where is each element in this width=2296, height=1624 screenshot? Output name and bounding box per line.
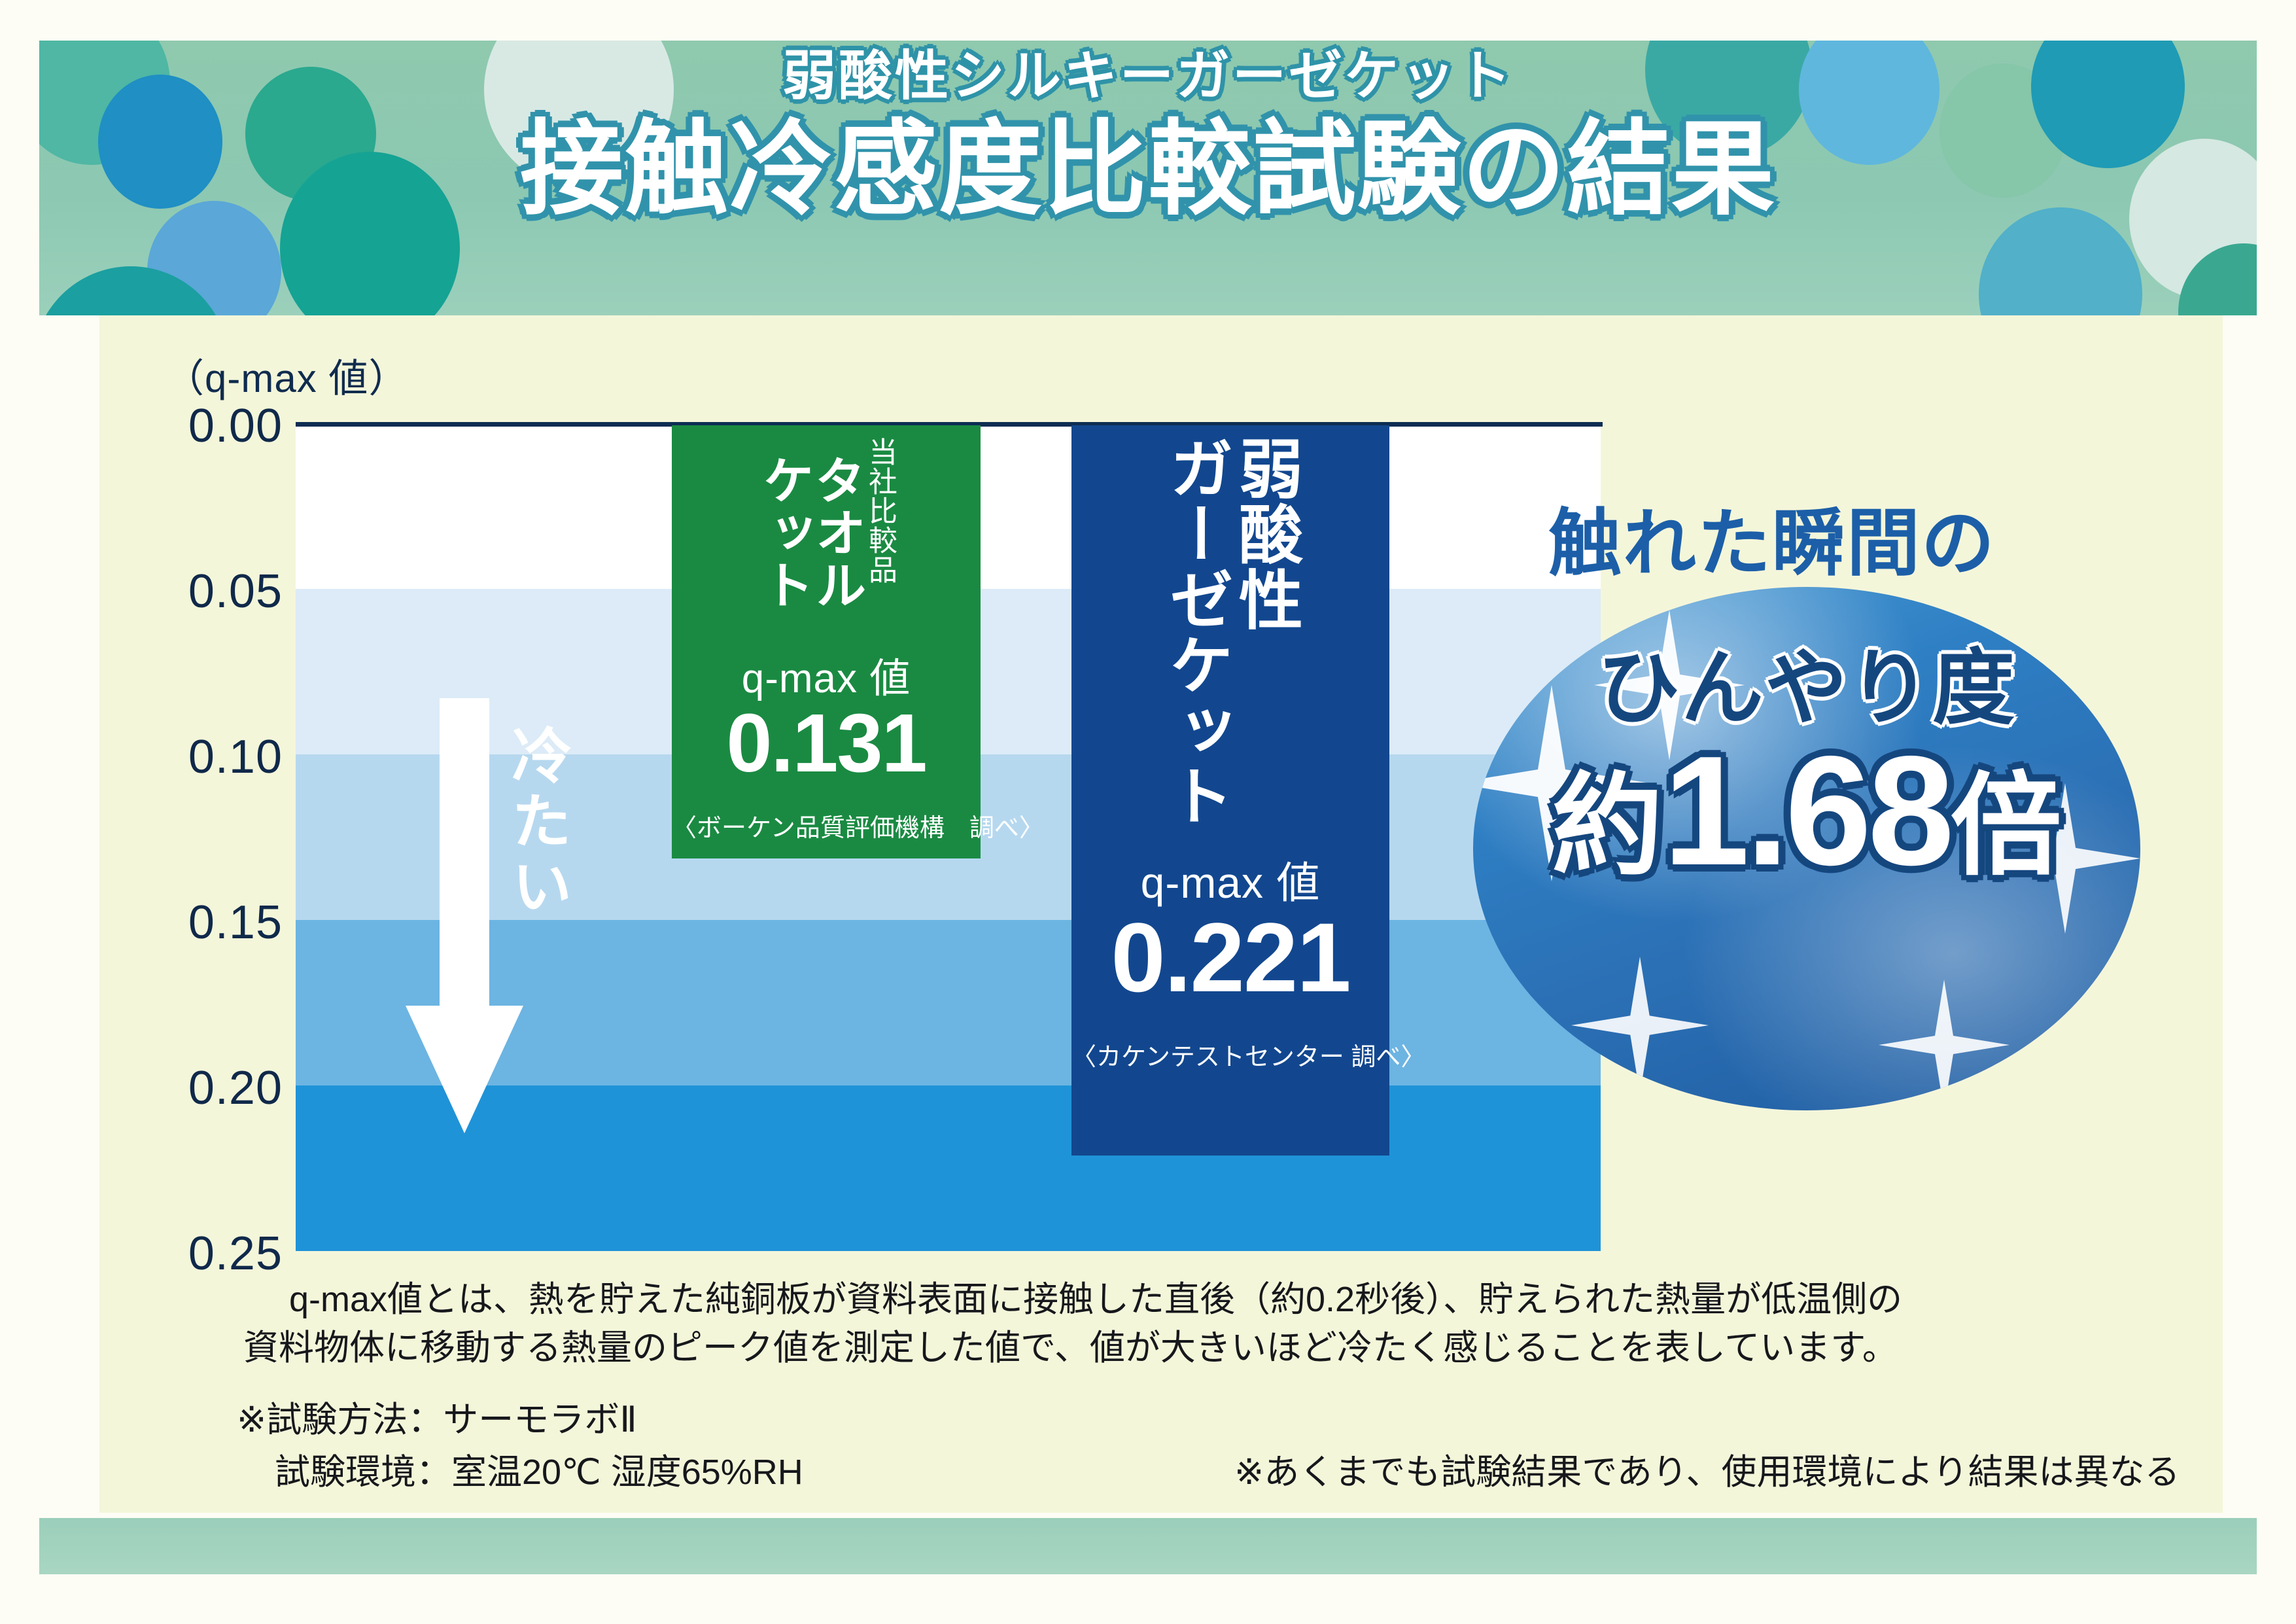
y-tick-1: 0.05 bbox=[113, 565, 283, 618]
definition-line-1: q-max値とは、熱を貯えた純銅板が資料表面に接触した直後（約0.2秒後）、貯え… bbox=[289, 1275, 1902, 1325]
test-environment: 試験環境：室温20℃ 湿度65%RH bbox=[275, 1447, 803, 1498]
ratio-prefix: 約 bbox=[1552, 764, 1663, 889]
header-band: 弱酸性シルキーガーゼケット 接触冷感度比較試験の結果 bbox=[39, 41, 2257, 315]
y-tick-0: 0.00 bbox=[113, 399, 283, 453]
title-block: 弱酸性シルキーガーゼケット 接触冷感度比較試験の結果 bbox=[39, 41, 2257, 315]
y-tick-2: 0.10 bbox=[113, 730, 283, 784]
bar-towel-qmax-value: 0.131 bbox=[672, 705, 981, 781]
bar-towel-blanket[interactable]: タオルケット 当社比較品 q-max 値 0.131 〈ボーケン品質評価機構 調… bbox=[672, 425, 981, 858]
bar-gauze-name-line1: 弱酸性 bbox=[1232, 436, 1298, 632]
test-method: ※試験方法：サーモラボⅡ bbox=[237, 1395, 637, 1445]
bar-towel-name-group: タオルケット 当社比較品 bbox=[672, 425, 981, 631]
bar-towel-qmax-label: q-max 値 bbox=[672, 645, 981, 704]
bar-gauze-qmax-label: q-max 値 bbox=[1071, 848, 1389, 911]
bar-towel-name-line2: タオルケット bbox=[758, 434, 862, 631]
callout-headline: 触れた瞬間の bbox=[1548, 484, 1996, 590]
y-tick-4: 0.20 bbox=[113, 1061, 283, 1115]
ratio-value: 1.68 bbox=[1663, 724, 1950, 898]
bar-towel-source: 〈ボーケン品質評価機構 調べ〉 bbox=[672, 807, 981, 843]
cold-label: 冷たい bbox=[506, 724, 566, 921]
bar-gauze-qmax-value: 0.221 bbox=[1071, 912, 1389, 1002]
page-title: 接触冷感度比較試験の結果 bbox=[39, 118, 2257, 221]
ratio-suffix: 倍 bbox=[1951, 764, 2062, 889]
ratio-callout-text: ひんやり度 約1.68倍 bbox=[1473, 587, 2140, 1110]
disclaimer: ※あくまでも試験結果であり、使用環境により結果は異なる bbox=[1234, 1447, 2180, 1498]
y-tick-3: 0.15 bbox=[113, 896, 283, 949]
poster-root: 弱酸性シルキーガーゼケット 接触冷感度比較試験の結果 （q-max 値） 0.0… bbox=[0, 0, 2296, 1624]
footer-strip bbox=[39, 1518, 2257, 1574]
coolness-degree-label: ひんやり度 bbox=[1473, 647, 2140, 730]
y-tick-5: 0.25 bbox=[113, 1227, 283, 1280]
bar-gauze-name-line2: ガーゼケット bbox=[1163, 436, 1228, 828]
chart-panel: （q-max 値） 0.00 0.05 0.10 0.15 0.20 0.25 … bbox=[99, 315, 2223, 1513]
coolness-ratio: 約1.68倍 bbox=[1473, 733, 2140, 889]
bar-gauze-name-group: ガーゼケット 弱酸性 bbox=[1071, 425, 1389, 841]
bar-towel-name-line1: 当社比較品 bbox=[865, 434, 894, 584]
y-axis-title: （q-max 値） bbox=[165, 347, 408, 404]
product-subtitle: 弱酸性シルキーガーゼケット bbox=[39, 50, 2257, 103]
bar-gauze-source: 〈カケンテストセンター 調べ〉 bbox=[1071, 1036, 1389, 1072]
bar-gauze-blanket[interactable]: ガーゼケット 弱酸性 q-max 値 0.221 〈カケンテストセンター 調べ〉 bbox=[1071, 425, 1389, 1156]
definition-line-2: 資料物体に移動する熱量のピーク値を測定した値で、値が大きいほど冷たく感じることを… bbox=[243, 1323, 1898, 1373]
